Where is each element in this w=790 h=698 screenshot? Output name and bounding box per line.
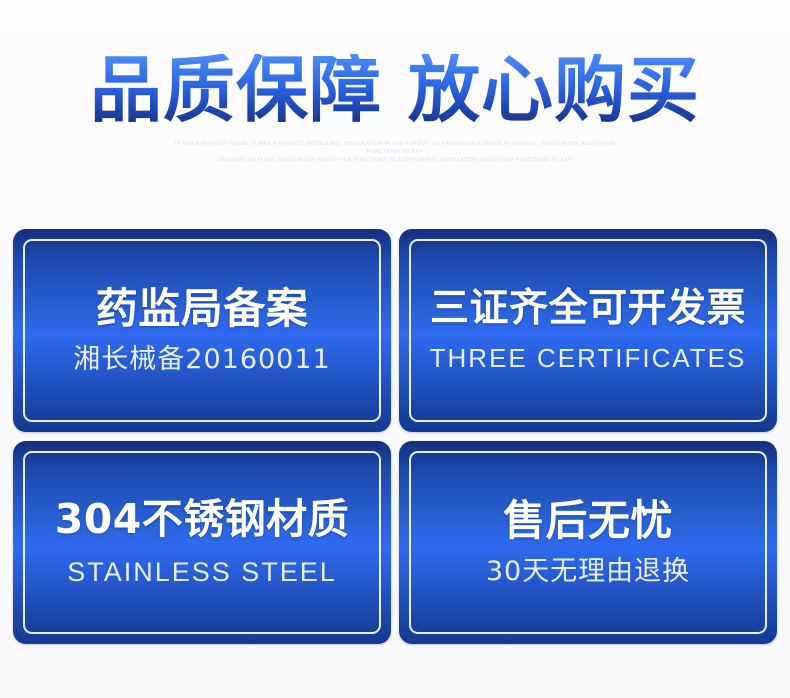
feature-card-grid: 药监局备案 湘长械备20160011 三证齐全可开发票 THREE CERTIF… xyxy=(13,229,777,644)
header: 品质保障放心购买 IT WAS A PERFECT MODEL IT WAS A… xyxy=(0,0,790,165)
headline-right: 放心购买 xyxy=(408,48,700,132)
feature-card-after-sales-worry-free: 售后无忧 30天无理由退换 xyxy=(399,441,777,644)
card-subtitle: 湘长械备20160011 xyxy=(73,344,330,375)
card-content: 药监局备案 湘长械备20160011 xyxy=(13,229,391,432)
card-title: 售后无忧 xyxy=(503,497,673,544)
header-subtitle-line-2: LIGHTING, HEATING, VENTILATION, AND OTHE… xyxy=(160,156,630,164)
headline-left: 品质保障 xyxy=(90,48,382,132)
card-title: 304不锈钢材质 xyxy=(55,497,350,543)
feature-card-drug-administration-filing: 药监局备案 湘长械备20160011 xyxy=(13,229,391,432)
card-subtitle: STAINLESS STEEL xyxy=(67,557,337,588)
promo-banner: 品质保障放心购买 IT WAS A PERFECT MODEL IT WAS A… xyxy=(0,0,790,698)
header-subtitle-line-1: IT WAS A PERFECT MODEL IT WAS A PERFECT … xyxy=(160,140,630,156)
feature-card-stainless-steel-304: 304不锈钢材质 STAINLESS STEEL xyxy=(13,441,391,644)
card-title: 药监局备案 xyxy=(96,285,309,332)
card-content: 售后无忧 30天无理由退换 xyxy=(399,441,777,644)
header-subtitle: IT WAS A PERFECT MODEL IT WAS A PERFECT … xyxy=(160,140,630,165)
card-title: 三证齐全可开发票 xyxy=(430,287,746,331)
card-content: 三证齐全可开发票 THREE CERTIFICATES xyxy=(399,229,777,432)
card-subtitle: 30天无理由退换 xyxy=(486,556,690,587)
card-content: 304不锈钢材质 STAINLESS STEEL xyxy=(13,441,391,644)
card-subtitle: THREE CERTIFICATES xyxy=(430,344,747,374)
feature-card-three-certificates: 三证齐全可开发票 THREE CERTIFICATES xyxy=(399,229,777,432)
page-title: 品质保障放心购买 xyxy=(90,54,700,126)
